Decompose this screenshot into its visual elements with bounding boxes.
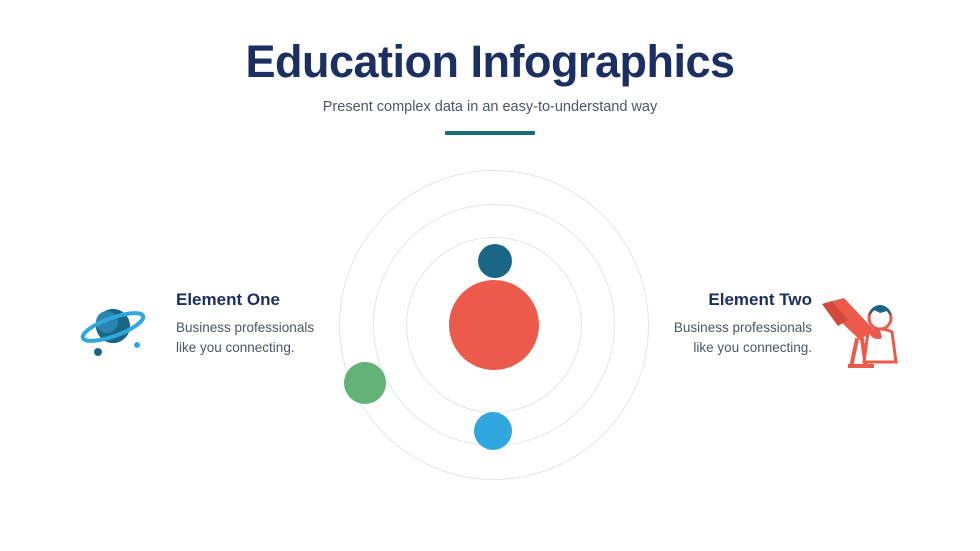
- element-two-title: Element Two: [650, 290, 812, 310]
- orbit-node-left: [344, 362, 386, 404]
- element-one-title: Element One: [176, 290, 330, 310]
- element-two-body: Business professionals like you connecti…: [650, 318, 812, 356]
- orbit-node-center: [449, 280, 539, 370]
- telescope-person-icon: [818, 296, 900, 377]
- slide-canvas: Education Infographics Present complex d…: [0, 0, 980, 551]
- orbit-diagram: [339, 170, 649, 480]
- slide-header: Education Infographics Present complex d…: [0, 38, 980, 135]
- title-underline-accent: [445, 131, 535, 135]
- page-subtitle: Present complex data in an easy-to-under…: [0, 99, 980, 115]
- orbit-node-bottom: [474, 412, 512, 450]
- orbit-node-top: [478, 244, 512, 278]
- planet-saturn-icon: [80, 296, 160, 373]
- element-two: Element Two Business professionals like …: [650, 290, 900, 357]
- element-one: Element One Business professionals like …: [80, 290, 330, 357]
- page-title: Education Infographics: [0, 38, 980, 85]
- element-one-body: Business professionals like you connecti…: [176, 318, 330, 356]
